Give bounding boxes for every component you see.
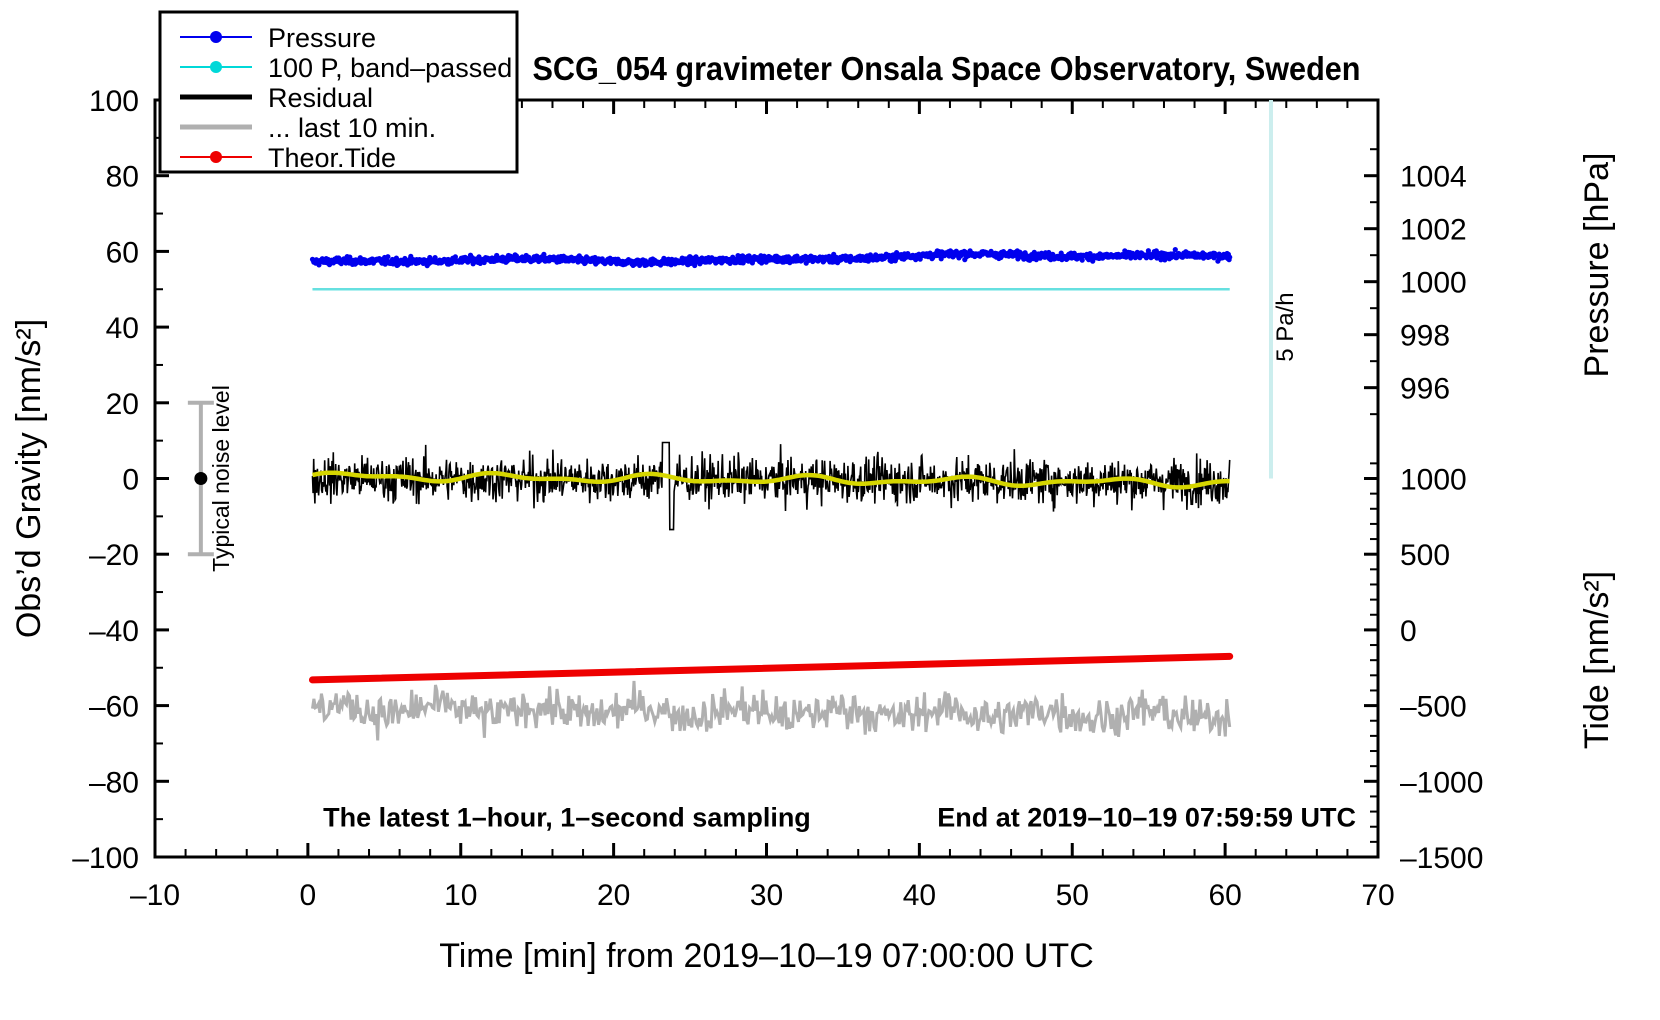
x-axis-title: Time [min] from 2019–10–19 07:00:00 UTC bbox=[439, 937, 1094, 975]
pressure-data-point bbox=[1227, 255, 1232, 260]
legend-item-label: Theor.Tide bbox=[268, 143, 396, 173]
legend-marker-dot bbox=[210, 31, 222, 43]
pressure-axis-tick-label: 1002 bbox=[1400, 214, 1467, 247]
pressure-data-point bbox=[1080, 258, 1085, 263]
pressure-data-point bbox=[385, 254, 390, 259]
tide-axis-title: Tide [nm/s²] bbox=[1578, 571, 1616, 749]
tide-axis-tick-label: 0 bbox=[1400, 615, 1417, 648]
pressure-axis-tick-label: 1000 bbox=[1400, 267, 1467, 300]
legend: Pressure100 P, band–passedResidual... la… bbox=[160, 12, 517, 173]
tide-axis-tick-label: –1000 bbox=[1400, 766, 1483, 799]
y-axis-tick-label: –20 bbox=[89, 539, 139, 572]
tide-axis-tick-label: –500 bbox=[1400, 691, 1467, 724]
pressure-scale-bar-label: 5 Pa/h bbox=[1272, 292, 1299, 361]
x-axis-tick-label: 20 bbox=[597, 879, 630, 912]
y-axis-tick-label: –40 bbox=[89, 615, 139, 648]
noise-level-label: Typical noise level bbox=[208, 385, 234, 572]
legend-item-label: Pressure bbox=[268, 23, 376, 53]
y-axis-tick-label: 0 bbox=[122, 464, 139, 497]
pressure-axis-tick-label: 998 bbox=[1400, 320, 1450, 353]
tide-axis-tick-label: –1500 bbox=[1400, 842, 1483, 875]
x-axis-tick-label: 40 bbox=[903, 879, 936, 912]
tide-axis-tick-label: 500 bbox=[1400, 539, 1450, 572]
pressure-axis-tick-label: 996 bbox=[1400, 373, 1450, 406]
tide-axis-tick-label: 1000 bbox=[1400, 464, 1467, 497]
figure-root: –10010203040506070–100–80–60–40–20020406… bbox=[0, 0, 1660, 1020]
y-axis-tick-label: 100 bbox=[89, 85, 139, 118]
x-axis-tick-label: 30 bbox=[750, 879, 783, 912]
legend-item-label: Residual bbox=[268, 83, 373, 113]
legend-marker-dot bbox=[210, 151, 222, 163]
chart-title: SCG_054 gravimeter Onsala Space Observat… bbox=[533, 50, 1361, 87]
legend-marker-dot bbox=[210, 61, 222, 73]
y-axis-tick-label: 60 bbox=[106, 236, 139, 269]
bottom-left-note: The latest 1–hour, 1–second sampling bbox=[323, 803, 811, 833]
y-axis-title: Obs’d Gravity [nm/s²] bbox=[10, 319, 48, 638]
pressure-axis-title: Pressure [hPa] bbox=[1578, 153, 1616, 378]
gravimeter-plot: –10010203040506070–100–80–60–40–20020406… bbox=[0, 0, 1660, 1020]
y-axis-tick-label: –100 bbox=[72, 842, 139, 875]
y-axis-tick-label: 80 bbox=[106, 161, 139, 194]
pressure-axis-tick-label: 1004 bbox=[1400, 161, 1467, 194]
legend-item-label: ... last 10 min. bbox=[268, 113, 436, 143]
x-axis-tick-label: 0 bbox=[300, 879, 317, 912]
y-axis-tick-label: 40 bbox=[106, 312, 139, 345]
x-axis-tick-label: 50 bbox=[1056, 879, 1089, 912]
y-axis-tick-label: –60 bbox=[89, 691, 139, 724]
x-axis-tick-label: –10 bbox=[130, 879, 180, 912]
y-axis-tick-label: –80 bbox=[89, 766, 139, 799]
legend-item-label: 100 P, band–passed bbox=[268, 53, 512, 83]
y-axis-tick-label: 20 bbox=[106, 388, 139, 421]
noise-level-center-dot bbox=[194, 472, 207, 485]
x-axis-tick-label: 60 bbox=[1208, 879, 1241, 912]
x-axis-tick-label: 70 bbox=[1361, 879, 1394, 912]
x-axis-tick-label: 10 bbox=[444, 879, 477, 912]
bottom-right-note: End at 2019–10–19 07:59:59 UTC bbox=[937, 803, 1356, 833]
